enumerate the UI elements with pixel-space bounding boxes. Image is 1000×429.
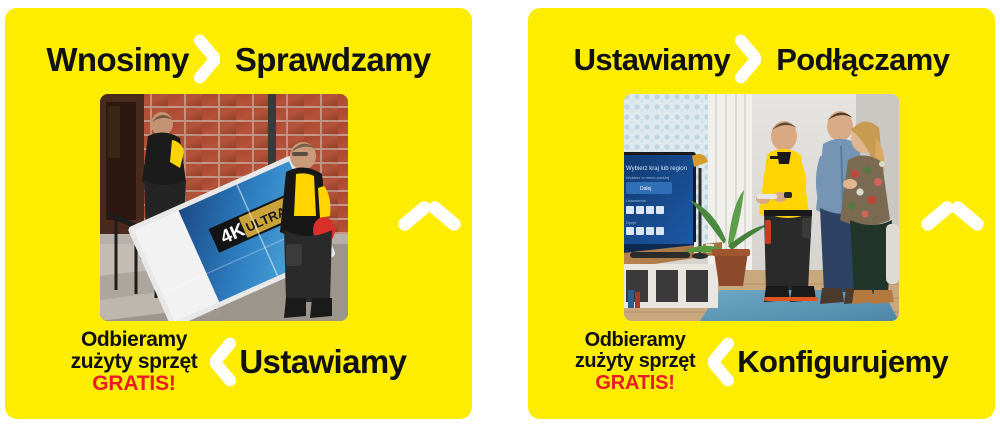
photo-installing-tv: Wybierz kraj lub region Wybierz w menu p…: [624, 94, 899, 321]
step-label-ustawiamy-top: Ustawiamy: [574, 44, 731, 75]
recycle-offer-right: Odbieramy zużyty sprzęt GRATIS!: [575, 330, 695, 394]
panel-right-top-steps: Ustawiamy Podłączamy: [528, 28, 995, 90]
svg-text:Opcje: Opcje: [626, 220, 637, 225]
step-label-sprawdzamy: Sprawdzamy: [235, 43, 431, 76]
chevron-right-icon: [736, 30, 770, 88]
recycle-free-badge: GRATIS!: [71, 373, 198, 395]
photo-carrying-tv: 4K ULTRA HD: [100, 94, 348, 321]
recycle-line-2: zużyty sprzęt: [71, 351, 198, 373]
chevron-right-icon: [195, 30, 229, 88]
chevron-down-icon: [923, 198, 985, 234]
service-step-panel-right: Ustawiamy Podłączamy: [528, 8, 995, 419]
panel-left-top-steps: Wnosimy Sprawdzamy: [5, 28, 472, 90]
step-label-podlaczamy: Podłączamy: [776, 44, 949, 75]
chevron-left-icon: [699, 333, 733, 391]
svg-text:Ustawienia: Ustawienia: [626, 198, 646, 203]
delivery-service-steps-graphic: Wnosimy Sprawdzamy: [0, 0, 1000, 429]
svg-text:Wybierz kraj lub region: Wybierz kraj lub region: [626, 166, 687, 172]
photo-carrying-tv-illustration: 4K ULTRA HD: [100, 94, 348, 321]
chevron-left-icon: [201, 333, 235, 391]
panel-right-bottom-steps: Odbieramy zużyty sprzęt GRATIS! Konfigur…: [528, 319, 995, 405]
recycle-free-badge: GRATIS!: [575, 373, 695, 394]
step-label-konfigurujemy: Konfigurujemy: [737, 344, 948, 380]
photo-installing-tv-illustration: Wybierz kraj lub region Wybierz w menu p…: [624, 94, 899, 321]
chevron-down-icon: [400, 198, 462, 234]
svg-text:Dalej: Dalej: [640, 186, 651, 192]
recycle-line-2: zużyty sprzęt: [575, 351, 695, 372]
recycle-line-1: Odbieramy: [71, 329, 198, 351]
step-label-ustawiamy: Ustawiamy: [239, 343, 406, 381]
service-step-panel-left: Wnosimy Sprawdzamy: [5, 8, 472, 419]
recycle-offer-left: Odbieramy zużyty sprzęt GRATIS!: [71, 329, 198, 396]
panel-left-bottom-steps: Odbieramy zużyty sprzęt GRATIS! Ustawiam…: [5, 319, 472, 405]
recycle-line-1: Odbieramy: [575, 330, 695, 351]
svg-text:Wybierz w menu poniżej: Wybierz w menu poniżej: [626, 175, 669, 180]
step-label-wnosimy: Wnosimy: [46, 43, 188, 76]
